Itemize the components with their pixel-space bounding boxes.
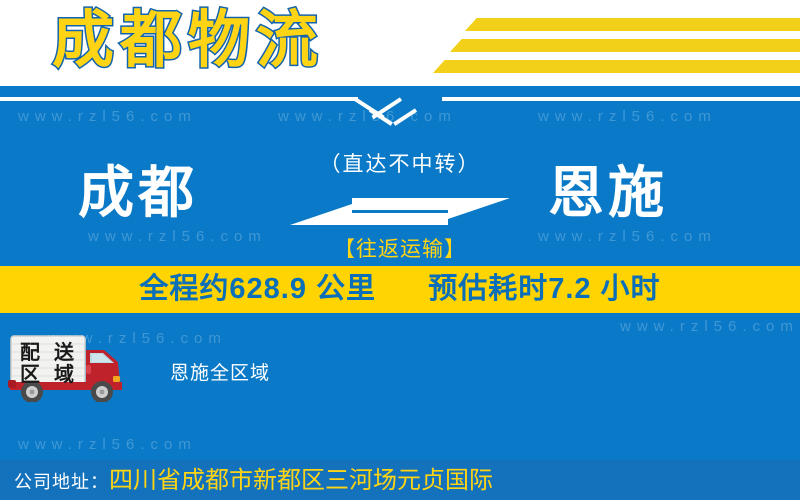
banner-header: 成都物流 [0,0,800,86]
watermark-7: www.rzl56.com [18,436,197,453]
roundtrip-note: 【往返运输】 [268,236,532,264]
direct-service-note: （直达不中转） [268,150,532,180]
bidirectional-arrow-icon [290,192,510,230]
address-value: 四川省成都市新都区三河场元贞国际 [109,467,493,494]
route-middle: （直达不中转） 【往返运输】 [268,150,532,264]
truck-label-4: 域 [54,362,74,386]
truck-label-3: 区 [20,364,40,386]
watermark-5: www.rzl56.com [620,318,799,335]
stripe-1 [465,18,800,31]
coverage-area-text: 恩施全区域 [170,358,270,385]
bidirectional-arrow-svg [290,192,510,230]
watermark-3: www.rzl56.com [88,228,267,245]
watermark-1: www.rzl56.com [278,108,457,125]
divider-line-left [0,97,358,101]
address-bar: 公司地址：四川省成都市新都区三河场元贞国际 [0,458,800,500]
stripe-2 [450,39,800,52]
divider-line-right [442,97,800,101]
watermark-6: www.rzl56.com [48,330,227,347]
watermark-4: www.rzl56.com [538,228,717,245]
logistics-banner: 成都物流 成都 （直达不中转） 【往返运输】 恩施 [0,0,800,500]
stripe-3 [433,60,800,73]
watermark-2: www.rzl56.com [538,108,717,125]
address-label: 公司地址： [14,472,109,492]
address-bar-content: 公司地址：四川省成都市新都区三河场元贞国际 [14,460,493,500]
page-title: 成都物流 [52,0,324,84]
info-band: 全程约628.9 公里 预估耗时7.2 小时 [0,266,800,313]
watermark-0: www.rzl56.com [18,108,197,125]
distance-text: 全程约628.9 公里 [139,273,376,305]
info-band-text: 全程约628.9 公里 预估耗时7.2 小时 [0,266,800,313]
decorative-stripes [425,18,800,76]
truck-label-1: 配 [20,341,40,364]
origin-city: 成都 [78,158,198,228]
destination-city: 恩施 [548,158,668,228]
duration-text: 预估耗时7.2 小时 [428,273,660,305]
